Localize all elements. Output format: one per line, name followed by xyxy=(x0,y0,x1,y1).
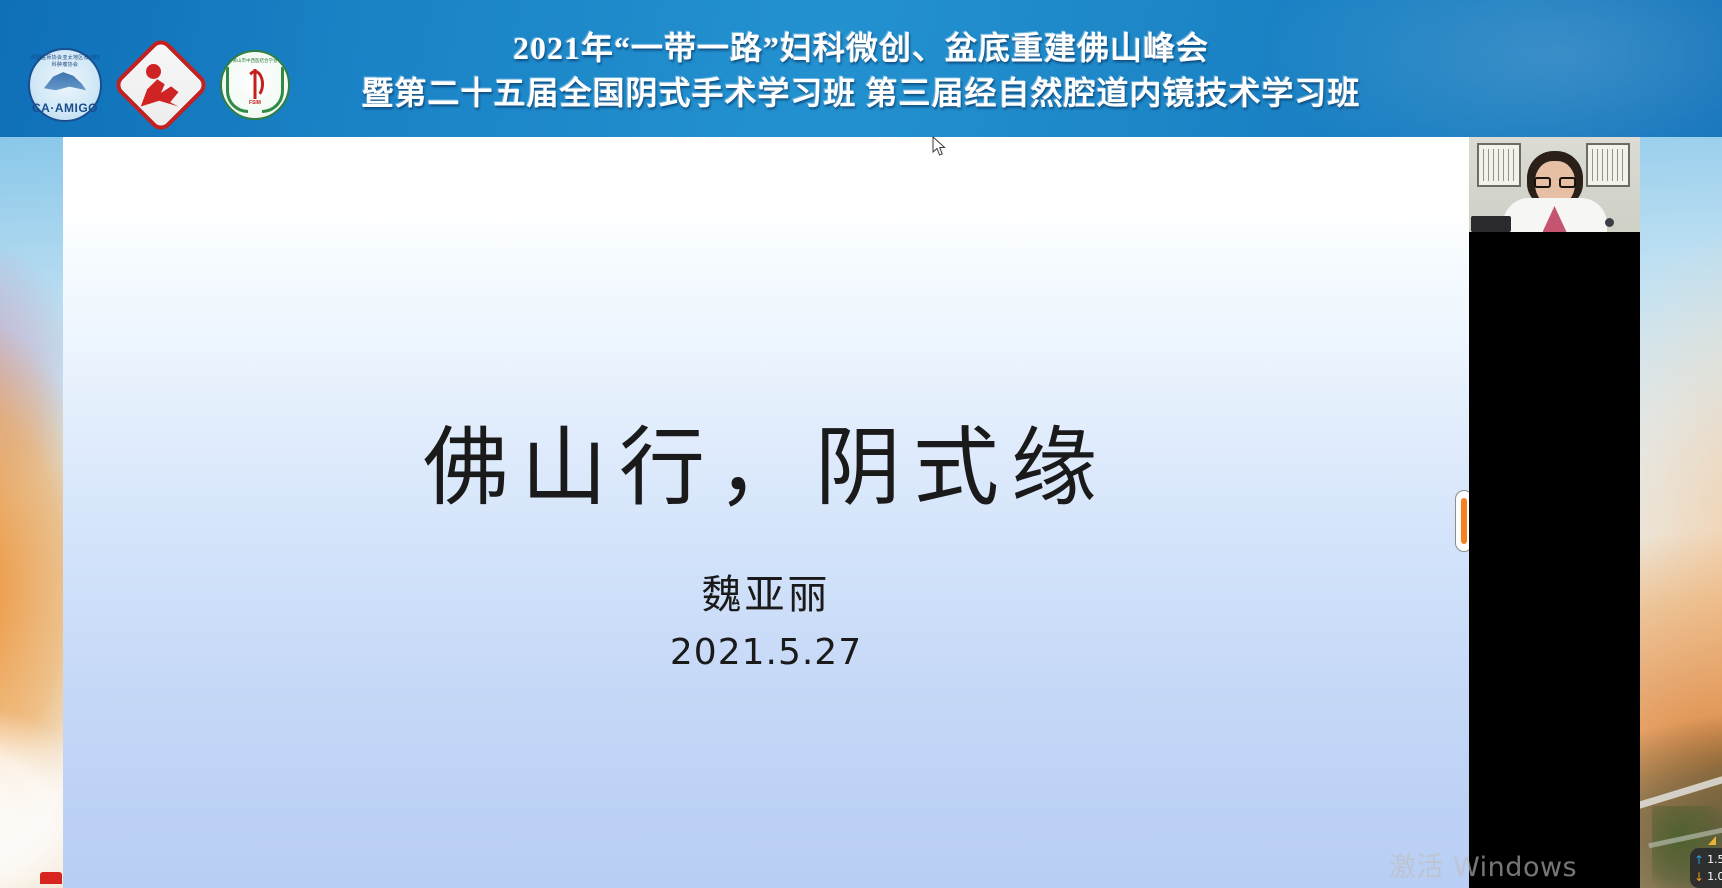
download-arrow-icon: ↓ xyxy=(1694,871,1704,883)
wall-scroll-left xyxy=(1477,143,1521,187)
speaker-glasses-icon xyxy=(1534,177,1576,188)
slide-date: 2021.5.27 xyxy=(63,632,1469,673)
upload-speed-row: ↑ 1.5K xyxy=(1694,851,1722,868)
slide-author: 魏亚丽 xyxy=(63,562,1469,620)
banner-title: 2021年“一带一路”妇科微创、盆底重建佛山峰会 暨第二十五届全国阴式手术学习班… xyxy=(0,26,1722,116)
screen-root: 中国医师协会亚太地区微创妇科肿瘤协会 CA·AMIGO 佛山市中西 xyxy=(0,0,1722,888)
tray-corner-arrow-icon xyxy=(1708,836,1716,845)
download-speed-value: 1.0M xyxy=(1707,868,1722,885)
upload-speed-value: 1.5K xyxy=(1707,851,1722,868)
banner-title-line1: 2021年“一带一路”妇科微创、盆底重建佛山峰会 xyxy=(0,26,1722,71)
speaker-video-tile[interactable] xyxy=(1469,137,1640,232)
slide-title: 佛山行，阴式缘 xyxy=(63,397,1469,522)
windows-activation-watermark: 激活 Windows xyxy=(1389,845,1577,884)
upload-arrow-icon: ↑ xyxy=(1694,854,1704,866)
banner-title-line2: 暨第二十五届全国阴式手术学习班 第三届经自然腔道内镜技术学习班 xyxy=(0,71,1722,116)
conference-banner: 中国医师协会亚太地区微创妇科肿瘤协会 CA·AMIGO 佛山市中西 xyxy=(0,0,1722,137)
download-speed-row: ↓ 1.0M xyxy=(1694,868,1722,885)
red-object-marker xyxy=(40,872,62,884)
network-speed-widget[interactable]: ↑ 1.5K ↓ 1.0M xyxy=(1690,848,1722,888)
video-panel[interactable] xyxy=(1469,137,1640,888)
presentation-slide[interactable]: 佛山行，阴式缘 魏亚丽 2021.5.27 xyxy=(63,137,1469,888)
speaker-badge-icon xyxy=(1605,218,1614,227)
wall-scroll-right xyxy=(1586,143,1630,187)
desk-laptop xyxy=(1471,216,1511,232)
